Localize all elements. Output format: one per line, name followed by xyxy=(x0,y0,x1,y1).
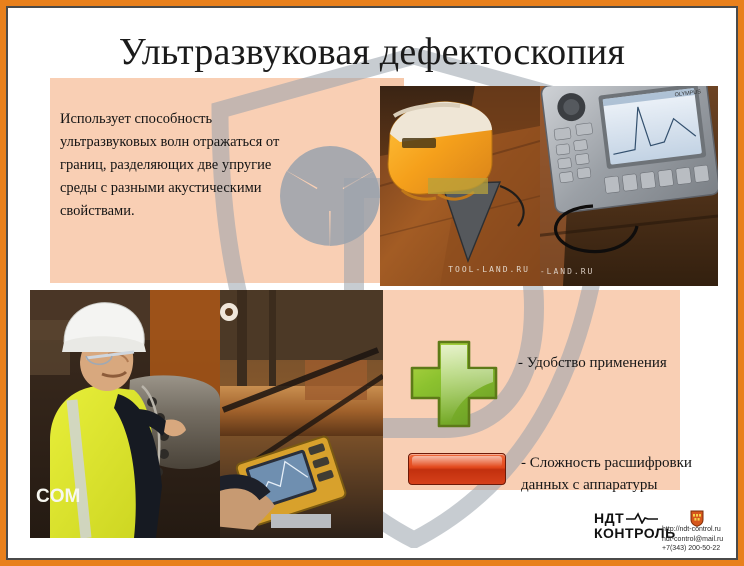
inspector-in-hardhat-photo: COM xyxy=(30,290,220,538)
svg-text:COM: COM xyxy=(36,486,80,507)
logo-contacts: http://ndt-control.ru ndt-control@mail.r… xyxy=(662,525,723,554)
minus-icon xyxy=(408,453,506,485)
olympus-flaw-detector-photo: OLYMPUS xyxy=(533,86,718,286)
advantage-text: - Удобство применения xyxy=(518,352,718,374)
plus-icon xyxy=(406,338,502,430)
logo-website[interactable]: http://ndt-control.ru xyxy=(662,525,723,535)
presentation-slide: Ультразвуковая дефектоскопия Использует … xyxy=(0,0,744,566)
slide-title: Ультразвуковая дефектоскопия xyxy=(8,30,736,74)
waveform-icon xyxy=(626,512,658,524)
logo-phone: +7(343) 200-50-22 xyxy=(662,544,723,554)
glove-and-trowel-photo: TOOL-LAND.RU TOOL-LAND.RU xyxy=(380,86,540,286)
ndt-control-logo[interactable]: НДТ КОНТРОЛЬ http://ndt-control.ru ndt-c… xyxy=(594,511,734,558)
disadvantage-text: - Сложность расшифровки данных с аппарат… xyxy=(521,452,711,496)
logo-line-1: НДТ xyxy=(594,510,624,526)
slide-canvas: Ультразвуковая дефектоскопия Использует … xyxy=(8,8,736,558)
svg-text:L-LAND.RU: L-LAND.RU xyxy=(533,267,594,276)
slide-body-text: Использует способность ультразвуковых во… xyxy=(60,108,310,223)
logo-email[interactable]: ndt-control@mail.ru xyxy=(662,535,723,545)
minus-gloss xyxy=(412,456,502,467)
pipe-inspection-photo xyxy=(213,290,383,538)
svg-text:TOOL-LAND.RU: TOOL-LAND.RU xyxy=(448,265,530,274)
